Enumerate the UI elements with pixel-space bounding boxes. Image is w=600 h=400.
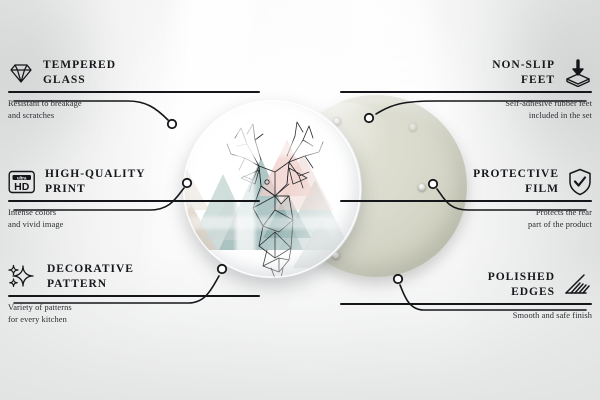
feature-divider (8, 91, 260, 93)
feature-title-line-1: PROTECTIVE (473, 167, 559, 182)
feature-description: Protects the rear part of the product (340, 207, 592, 231)
infographic-canvas: TEMPERED GLASS Resistant to breakage and… (0, 0, 600, 400)
feature-tempered-glass[interactable]: TEMPERED GLASS Resistant to breakage and… (8, 58, 260, 122)
feature-title-line-2: GLASS (43, 73, 116, 88)
hatched-triangle-icon (564, 272, 592, 298)
feature-title-line-1: HIGH-QUALITY (45, 167, 146, 182)
feature-desc-line-2: and scratches (8, 110, 260, 122)
feature-title: NON-SLIP FEET (492, 58, 555, 87)
ultra-label: ultra (17, 175, 27, 180)
feature-header: TEMPERED GLASS (8, 58, 260, 87)
feature-desc-line-1: Self-adhesive rubber feet (340, 98, 592, 110)
feature-divider (8, 295, 260, 297)
feature-header: ultra HD HIGH-QUALITY PRINT (8, 167, 260, 196)
feature-desc-line-2: part of the product (340, 219, 592, 231)
feature-desc-line-2: and vivid image (8, 219, 260, 231)
feature-decorative-pattern[interactable]: DECORATIVE PATTERN Variety of patterns f… (8, 262, 260, 326)
feature-high-quality-print[interactable]: ultra HD HIGH-QUALITY PRINT Intense colo… (8, 167, 260, 231)
feature-desc-line-1: Protects the rear (340, 207, 592, 219)
feature-title-line-2: FILM (473, 182, 559, 197)
feature-description: Variety of patterns for every kitchen (8, 302, 260, 326)
rubber-foot (409, 123, 417, 131)
feature-desc-line-2: included in the set (340, 110, 592, 122)
feature-divider (340, 91, 592, 93)
feature-title-line-2: PRINT (45, 182, 146, 197)
sparkles-icon (8, 264, 38, 290)
feature-title: HIGH-QUALITY PRINT (45, 167, 146, 196)
feature-title-line-1: POLISHED (488, 270, 555, 285)
feature-description: Self-adhesive rubber feet included in th… (340, 98, 592, 122)
ultra-hd-icon: ultra HD (8, 169, 36, 195)
feature-title-line-2: EDGES (488, 285, 555, 300)
feature-protective-film[interactable]: PROTECTIVE FILM Protects the rear part o… (340, 167, 592, 231)
feature-divider (340, 303, 592, 305)
feature-description: Resistant to breakage and scratches (8, 98, 260, 122)
hd-label: HD (14, 181, 30, 193)
feature-title: PROTECTIVE FILM (473, 167, 559, 196)
feature-title-line-1: NON-SLIP (492, 58, 555, 73)
feature-title-line-1: TEMPERED (43, 58, 116, 73)
feature-divider (8, 200, 260, 202)
feature-title: POLISHED EDGES (488, 270, 555, 299)
shield-check-icon (568, 168, 592, 196)
feature-polished-edges[interactable]: POLISHED EDGES Smooth and safe finish (340, 270, 592, 322)
arrow-down-pad-icon (564, 59, 592, 87)
feature-header: DECORATIVE PATTERN (8, 262, 260, 291)
feature-title-line-2: FEET (492, 73, 555, 88)
feature-header: NON-SLIP FEET (340, 58, 592, 87)
feature-header: POLISHED EDGES (340, 270, 592, 299)
feature-description: Intense colors and vivid image (8, 207, 260, 231)
feature-header: PROTECTIVE FILM (340, 167, 592, 196)
diamond-icon (8, 61, 34, 85)
feature-desc-line-1: Intense colors (8, 207, 260, 219)
feature-title: DECORATIVE PATTERN (47, 262, 134, 291)
feature-title-line-1: DECORATIVE (47, 262, 134, 277)
feature-title-line-2: PATTERN (47, 277, 134, 292)
feature-desc-line-1: Smooth and safe finish (340, 310, 592, 322)
feature-desc-line-1: Variety of patterns (8, 302, 260, 314)
feature-description: Smooth and safe finish (340, 310, 592, 322)
feature-divider (340, 200, 592, 202)
feature-desc-line-2: for every kitchen (8, 314, 260, 326)
feature-non-slip-feet[interactable]: NON-SLIP FEET Self-adhesive rubber feet … (340, 58, 592, 122)
feature-desc-line-1: Resistant to breakage (8, 98, 260, 110)
feature-title: TEMPERED GLASS (43, 58, 116, 87)
